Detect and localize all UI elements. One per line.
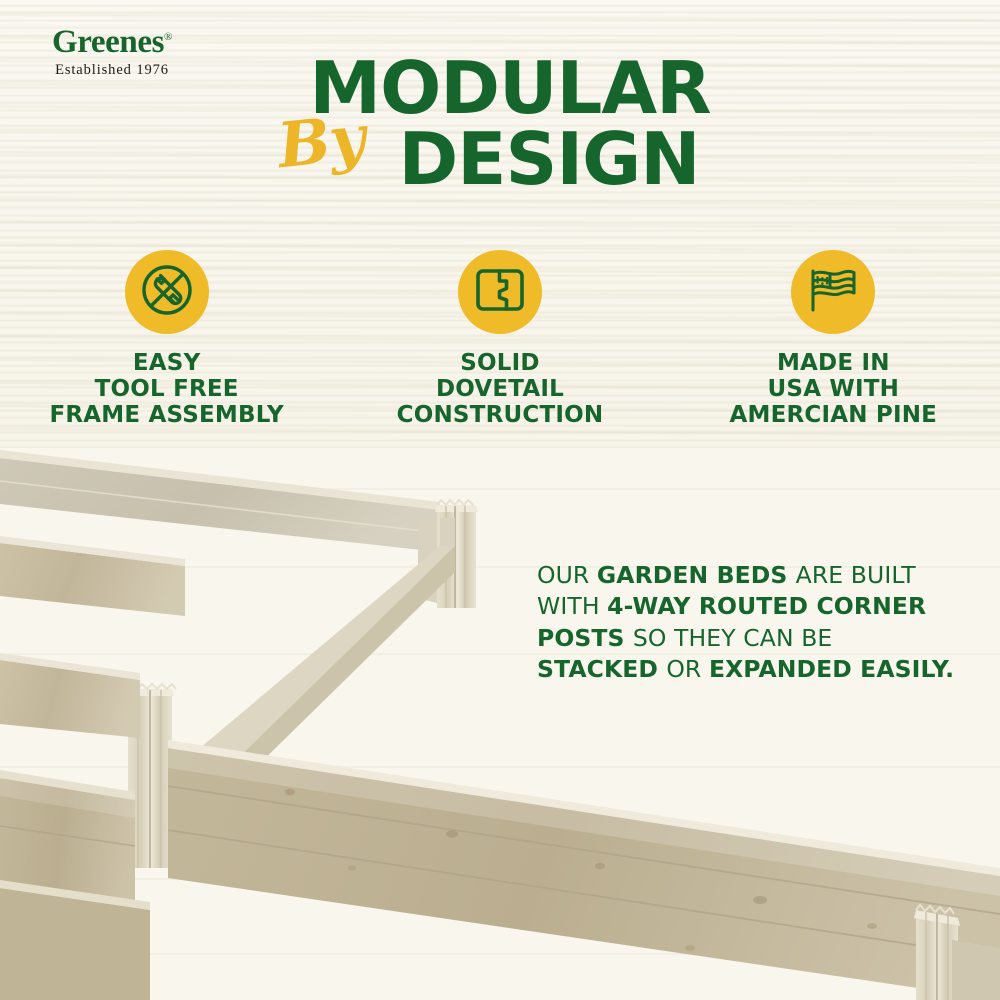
brand-logo: Greenes® Established 1976 [32,26,192,79]
feature-badge-3 [791,250,875,334]
feature-item-tool-free: EASY TOOL FREE FRAME ASSEMBLY [0,250,333,429]
feature-row: EASY TOOL FREE FRAME ASSEMBLY SOLID DOVE… [0,250,1000,429]
body-copy-segment-6: OR [666,655,709,683]
feature-item-made-in-usa: MADE IN USA WITH AMERCIAN PINE [667,250,1000,429]
brand-name: Greenes® [52,26,172,59]
feature-badge-1 [125,250,209,334]
body-copy-segment-1: GARDEN BEDS [597,561,796,589]
no-tools-icon [139,262,195,323]
product-photo [0,448,1000,1000]
feature-label-3: MADE IN USA WITH AMERCIAN PINE [730,350,938,429]
headline-line-2-wrapper: By DESIGN [250,121,770,201]
body-copy-segment-7: EXPANDED EASILY. [709,655,954,683]
feature-label-1: EASY TOOL FREE FRAME ASSEMBLY [49,350,283,429]
feature-badge-2 [458,250,542,334]
body-copy-segment-5: STACKED [537,655,666,683]
feature-item-dovetail: SOLID DOVETAIL CONSTRUCTION [333,250,666,429]
dovetail-joint-icon [475,267,525,318]
body-copy-segment-4: SO THEY CAN BE [633,624,833,652]
headline-script-word: By [275,107,367,178]
infographic-canvas: Greenes® Established 1976 MODULAR By DES… [0,0,1000,1000]
brand-tagline: Established 1976 [32,62,192,79]
brand-name-text: Greenes [52,24,164,60]
feature-label-2: SOLID DOVETAIL CONSTRUCTION [397,350,604,429]
usa-flag-icon [806,265,860,320]
body-copy: OUR GARDEN BEDS ARE BUILT WITH 4-WAY ROU… [537,560,957,686]
body-copy-segment-0: OUR [537,561,597,589]
registered-trademark-icon: ® [164,31,172,43]
headline: MODULAR By DESIGN [250,55,770,201]
